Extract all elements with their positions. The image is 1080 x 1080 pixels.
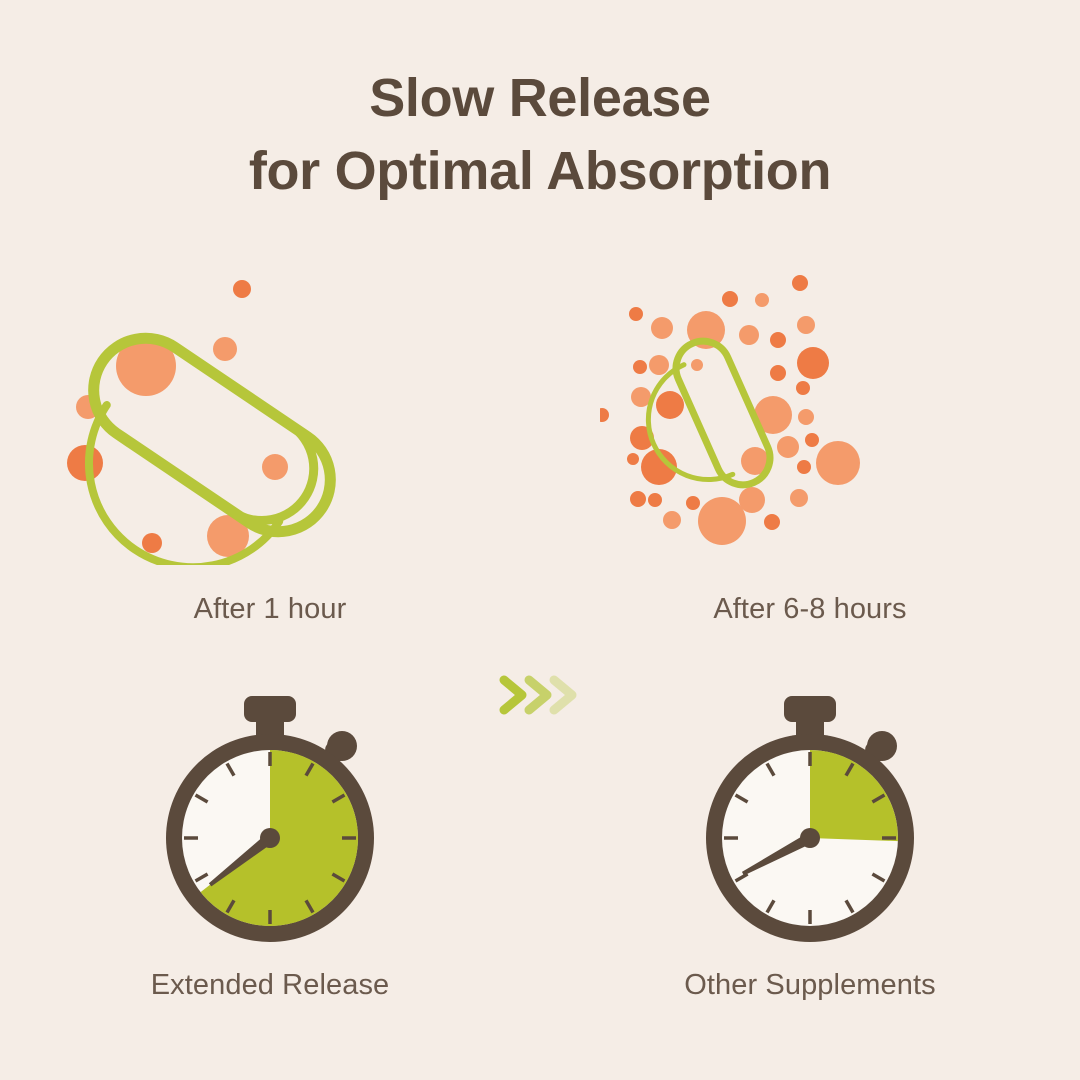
particle-dot [770,332,786,348]
infographic-canvas: Slow Release for Optimal Absorption [0,0,1080,1080]
particle-dot [739,325,759,345]
particle-dot [629,307,643,321]
particle-dot [663,511,681,529]
particle-dot [656,391,684,419]
particle-dot [770,365,786,381]
stopwatch-stage-right [600,690,1020,955]
capsule-dissolving-illustration [600,255,1020,565]
particle-dot [722,291,738,307]
particle-dot [698,497,746,545]
capsule-stage-right [600,255,1020,565]
particle-dot [691,359,703,371]
particle-dot [651,317,673,339]
stopwatch-panel-other-supplements: Other Supplements [600,690,1020,1050]
capsule-panel-after-6-8-hours: After 6-8 hours [600,255,1020,655]
particle-dot [790,489,808,507]
particle-dot [142,533,162,553]
stopwatch-panel-extended-release: Extended Release [60,690,480,1050]
particle-dot [233,280,251,298]
particle-dot [777,436,799,458]
title-line-1: Slow Release [0,62,1080,135]
particle-dot [648,493,662,507]
stopwatch-icon [60,690,480,955]
stopwatch-hand-pivot [800,828,820,848]
particle-dot [213,337,237,361]
particle-dot [686,496,700,510]
particle-dot [764,514,780,530]
particle-dot [630,491,646,507]
capsule-comparison-row: After 1 hour [0,255,1080,655]
stopwatch-stage-left [60,690,480,955]
stopwatch-caption-right: Other Supplements [600,967,1020,1003]
stopwatch-icon [600,690,1020,955]
particle-dot [627,453,639,465]
stopwatch-hand-pivot [260,828,280,848]
particle-dot [805,433,819,447]
particle-dot [796,381,810,395]
capsule-panel-after-1-hour: After 1 hour [60,255,480,655]
capsule-stage-left [60,255,480,565]
particle-dot [797,316,815,334]
particle-dot [600,408,609,422]
particle-dot [262,454,288,480]
capsule-icon [623,333,779,514]
particle-dot [798,409,814,425]
stopwatch-comparison-row: Extended Release [0,690,1080,1050]
particle-dot [797,347,829,379]
particle-dot [739,487,765,513]
dot-cluster-right [600,275,860,545]
particle-dot [755,293,769,307]
particle-dot [816,441,860,485]
particle-dot [649,355,669,375]
capsule-caption-left: After 1 hour [60,591,480,627]
page-title: Slow Release for Optimal Absorption [0,62,1080,208]
capsule-outer-body [73,318,350,552]
capsule-icon [60,318,351,565]
particle-dot [633,360,647,374]
particle-dot [792,275,808,291]
particle-dot [797,460,811,474]
capsule-caption-right: After 6-8 hours [600,591,1020,627]
title-line-2: for Optimal Absorption [0,135,1080,208]
stopwatch-caption-left: Extended Release [60,967,480,1003]
capsule-intact-illustration [60,255,480,565]
